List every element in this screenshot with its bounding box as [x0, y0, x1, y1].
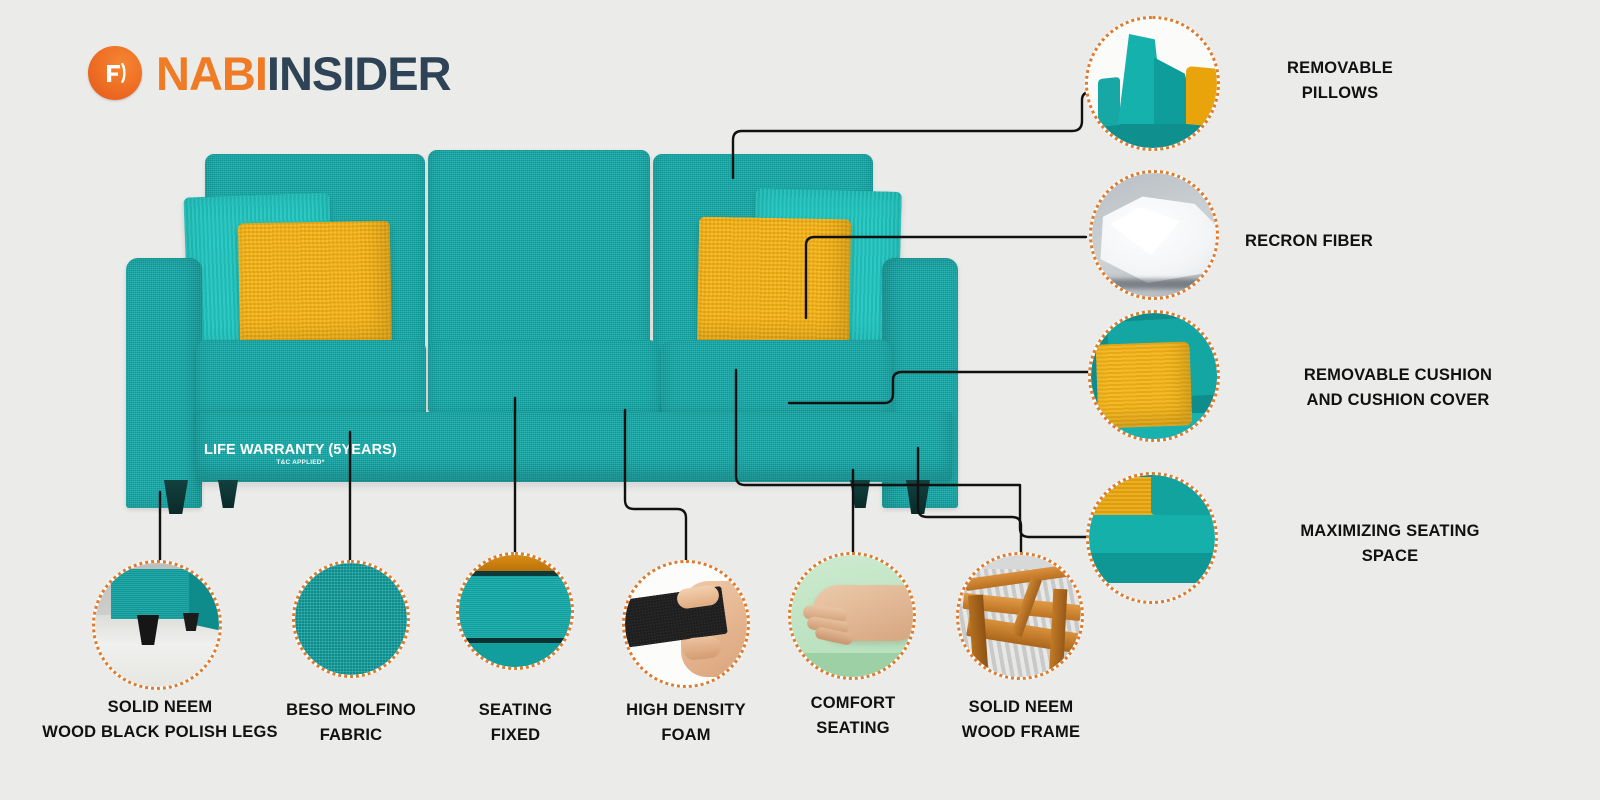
- sofa-leg-back-right: [850, 480, 870, 508]
- callout-circle-comfort-seating[interactable]: [788, 552, 916, 680]
- callout-circle-removable-cushion[interactable]: [1088, 310, 1220, 442]
- callout-label-removable-cushion: REMOVABLE CUSHION AND CUSHION COVER: [1243, 363, 1553, 413]
- sofa-arm-left: [126, 258, 202, 508]
- callout-circle-beso-molfino-fabric[interactable]: [292, 560, 410, 678]
- hand-pressing-green-foam-photo: [791, 555, 913, 677]
- callout-label-beso-molfino-fabric: BESO MOLFINO FABRIC: [265, 698, 437, 748]
- callout-label-solid-neem-wood-black-polish-legs: SOLID NEEM WOOD BLACK POLISH LEGS: [30, 695, 290, 745]
- brand-wordmark: NABIINSIDER: [156, 50, 451, 97]
- sofa-seat-cushion-right: [662, 340, 892, 422]
- warranty-note: T&C APPLIED*: [204, 459, 397, 466]
- callout-label-solid-neem-wood-frame: SOLID NEEM WOOD FRAME: [940, 695, 1102, 745]
- callout-label-comfort-seating: COMFORT SEATING: [772, 691, 934, 741]
- callout-circle-seating-fixed[interactable]: [456, 552, 574, 670]
- yellow-accent-pillow-left: [238, 221, 392, 352]
- sofa-leg-front-right: [906, 480, 930, 514]
- callout-circle-high-density-foam[interactable]: [622, 560, 750, 688]
- brand-word-insider: INSIDER: [267, 47, 451, 100]
- wooden-frame-photo: [959, 555, 1081, 677]
- brand-logo: NABIINSIDER: [88, 46, 451, 100]
- brand-word-nabi: NABI: [156, 47, 267, 100]
- hand-squeezing-black-foam-photo: [625, 563, 747, 685]
- yellow-cushion-on-sofa-photo: [1091, 313, 1217, 439]
- warranty-text: LIFE WARRANTY (5YEARS): [204, 442, 397, 458]
- white-fiber-photo: [1092, 173, 1216, 297]
- sofa-corner-seat-photo: [1089, 475, 1215, 601]
- fixed-seat-panel-photo: [459, 555, 571, 667]
- sofa-leg-front-left: [164, 480, 188, 514]
- sofa-leg-photo: [95, 563, 219, 687]
- warranty-overlay: LIFE WARRANTY (5YEARS) T&C APPLIED*: [204, 442, 397, 466]
- callout-circle-solid-neem-wood-black-polish-legs[interactable]: [92, 560, 222, 690]
- sofa-seat-cushion-middle: [429, 340, 659, 422]
- callout-label-recron-fiber: RECRON FIBER: [1245, 229, 1495, 254]
- callout-circle-recron-fiber[interactable]: [1089, 170, 1219, 300]
- yellow-accent-pillow-right: [697, 217, 851, 350]
- callout-label-high-density-foam: HIGH DENSITY FOAM: [600, 698, 772, 748]
- sofa-seat-cushion-left: [196, 340, 426, 422]
- sofa-leg-back-left: [218, 480, 238, 508]
- infographic-canvas: NABIINSIDER LIFE WARRANTY (5YEARS) T&C A…: [0, 0, 1600, 800]
- fi-monogram-icon: [88, 46, 142, 100]
- callout-label-removable-pillows: REMOVABLE PILLOWS: [1240, 56, 1440, 106]
- callout-circle-removable-pillows[interactable]: [1085, 16, 1220, 151]
- callout-circle-solid-neem-wood-frame[interactable]: [956, 552, 1084, 680]
- callout-label-seating-fixed: SEATING FIXED: [438, 698, 593, 748]
- callout-circle-maximizing-seating[interactable]: [1086, 472, 1218, 604]
- callout-label-maximizing-seating: MAXIMIZING SEATING SPACE: [1240, 519, 1540, 569]
- teal-fabric-weave-photo: [295, 563, 407, 675]
- sofa-back-pillows-photo: [1088, 19, 1217, 148]
